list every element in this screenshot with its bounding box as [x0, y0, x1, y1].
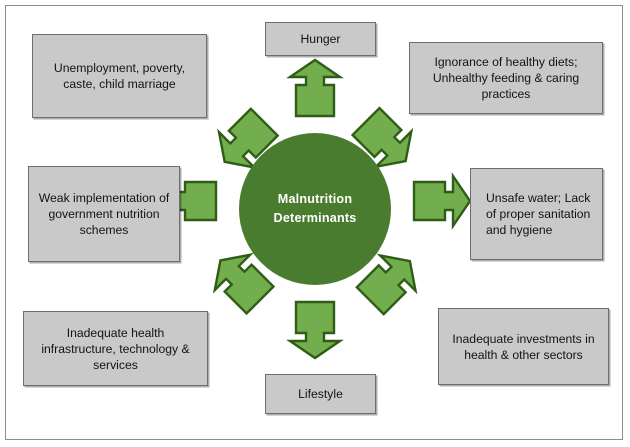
- box-weak-label: Weak implementation of government nutrit…: [35, 190, 173, 238]
- box-hunger: Hunger: [265, 22, 376, 56]
- arrow-down-icon: [290, 302, 340, 358]
- box-investments-label: Inadequate investments in health & other…: [445, 331, 602, 363]
- box-hunger-label: Hunger: [272, 31, 369, 47]
- box-lifestyle-label: Lifestyle: [272, 386, 369, 402]
- diagram-canvas: Malnutrition Determinants Hunger Unemplo…: [0, 0, 630, 447]
- box-ignorance-label: Ignorance of healthy diets; Unhealthy fe…: [416, 54, 596, 102]
- box-infra-label: Inadequate health infrastructure, techno…: [30, 325, 201, 373]
- box-unsafe-label: Unsafe water; Lack of proper sanitation …: [477, 190, 596, 238]
- arrow-right-icon: [414, 176, 470, 226]
- box-inadequate-health-infrastructure: Inadequate health infrastructure, techno…: [23, 311, 208, 386]
- center-node-line-1: Malnutrition: [278, 190, 352, 209]
- box-weak-implementation: Weak implementation of government nutrit…: [28, 166, 180, 262]
- box-inadequate-investments: Inadequate investments in health & other…: [438, 308, 609, 385]
- box-unsafe-water: Unsafe water; Lack of proper sanitation …: [470, 168, 603, 260]
- box-ignorance-of-healthy-diets: Ignorance of healthy diets; Unhealthy fe…: [409, 42, 603, 114]
- center-node-malnutrition-determinants: Malnutrition Determinants: [239, 133, 391, 285]
- arrow-up-icon: [290, 60, 340, 116]
- box-lifestyle: Lifestyle: [265, 374, 376, 414]
- center-node-line-2: Determinants: [274, 209, 357, 228]
- box-unemployment-label: Unemployment, poverty, caste, child marr…: [39, 60, 200, 92]
- box-unemployment: Unemployment, poverty, caste, child marr…: [32, 34, 207, 118]
